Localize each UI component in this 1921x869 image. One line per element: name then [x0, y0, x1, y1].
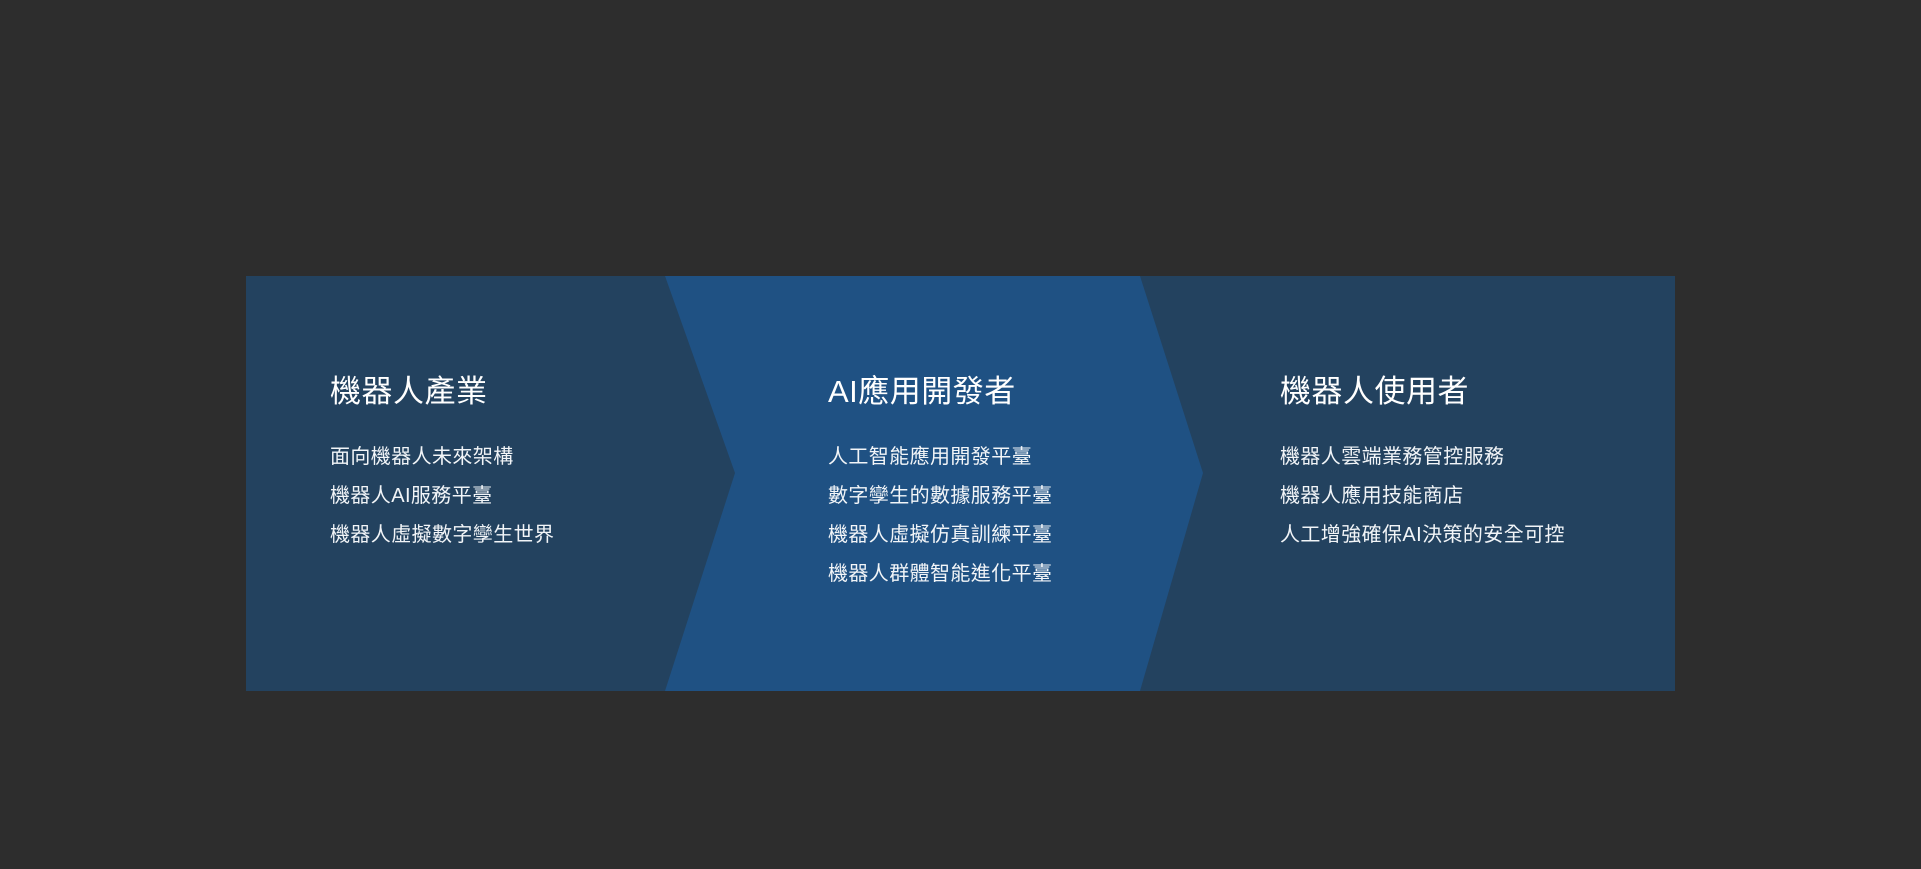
list-item: 機器人群體智能進化平臺: [828, 558, 1052, 590]
column-list-ai-app-developer: 人工智能應用開發平臺 數字孿生的數據服務平臺 機器人虛擬仿真訓練平臺 機器人群體…: [828, 441, 1052, 590]
column-heading-robot-user: 機器人使用者: [1280, 372, 1469, 412]
list-item: 人工智能應用開發平臺: [828, 441, 1052, 473]
slide-canvas: 機器人產業 面向機器人未來架構 機器人AI服務平臺 機器人虛擬數字孿生世界 AI…: [0, 0, 1921, 869]
list-item: 數字孿生的數據服務平臺: [828, 480, 1052, 512]
list-item: 面向機器人未來架構: [330, 441, 554, 473]
column-list-robot-user: 機器人雲端業務管控服務 機器人應用技能商店 人工增強確保AI決策的安全可控: [1280, 441, 1565, 551]
list-item: 機器人虛擬仿真訓練平臺: [828, 519, 1052, 551]
segment-column-robot-industry: 機器人產業 面向機器人未來架構 機器人AI服務平臺 機器人虛擬數字孿生世界: [330, 276, 660, 691]
list-item: 機器人AI服務平臺: [330, 480, 554, 512]
column-heading-robot-industry: 機器人產業: [330, 372, 488, 412]
list-item: 機器人雲端業務管控服務: [1280, 441, 1565, 473]
segment-column-robot-user: 機器人使用者 機器人雲端業務管控服務 機器人應用技能商店 人工增強確保AI決策的…: [1280, 276, 1640, 691]
column-heading-ai-app-developer: AI應用開發者: [828, 372, 1016, 412]
three-segment-banner: 機器人產業 面向機器人未來架構 機器人AI服務平臺 機器人虛擬數字孿生世界 AI…: [246, 276, 1675, 691]
list-item: 機器人應用技能商店: [1280, 480, 1565, 512]
column-list-robot-industry: 面向機器人未來架構 機器人AI服務平臺 機器人虛擬數字孿生世界: [330, 441, 554, 551]
list-item: 人工增強確保AI決策的安全可控: [1280, 519, 1565, 551]
segment-column-ai-app-developer: AI應用開發者 人工智能應用開發平臺 數字孿生的數據服務平臺 機器人虛擬仿真訓練…: [828, 276, 1158, 691]
list-item: 機器人虛擬數字孿生世界: [330, 519, 554, 551]
